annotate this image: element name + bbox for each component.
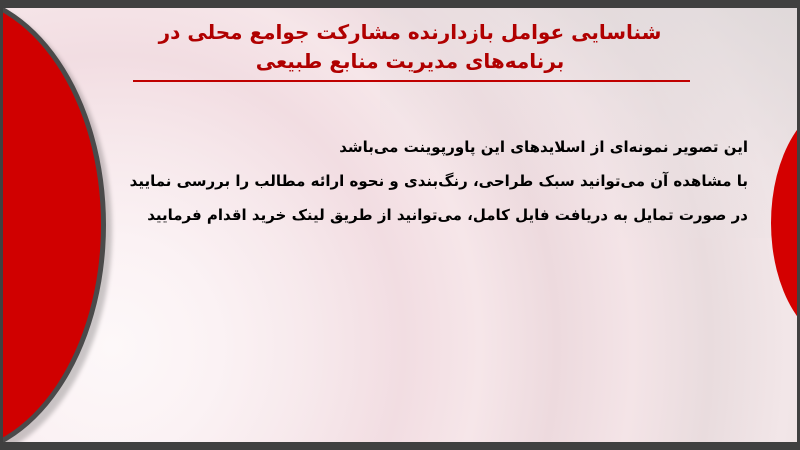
slide-title: شناسایی عوامل بازدارنده مشارکت جوامع محل… bbox=[120, 18, 700, 76]
slide-title-line-1: شناسایی عوامل بازدارنده مشارکت جوامع محل… bbox=[120, 18, 700, 47]
title-underline-rule bbox=[133, 80, 690, 82]
slide-title-line-2: برنامه‌های مدیریت منابع طبیعی bbox=[120, 47, 700, 76]
slide-frame-bottom bbox=[0, 442, 800, 450]
body-line-3: در صورت تمایل به دریافت فایل کامل، می‌تو… bbox=[48, 198, 748, 232]
slide-body-text: این تصویر نمونه‌ای از اسلایدهای این پاور… bbox=[48, 130, 748, 232]
slide-frame-left bbox=[0, 0, 3, 450]
slide-canvas: شناسایی عوامل بازدارنده مشارکت جوامع محل… bbox=[0, 0, 800, 450]
slide-frame-top bbox=[0, 0, 800, 8]
body-line-2: با مشاهده آن می‌توانید سبک طراحی، رنگ‌بن… bbox=[48, 164, 748, 198]
body-line-1: این تصویر نمونه‌ای از اسلایدهای این پاور… bbox=[48, 130, 748, 164]
slide-content-area: شناسایی عوامل بازدارنده مشارکت جوامع محل… bbox=[0, 8, 800, 442]
